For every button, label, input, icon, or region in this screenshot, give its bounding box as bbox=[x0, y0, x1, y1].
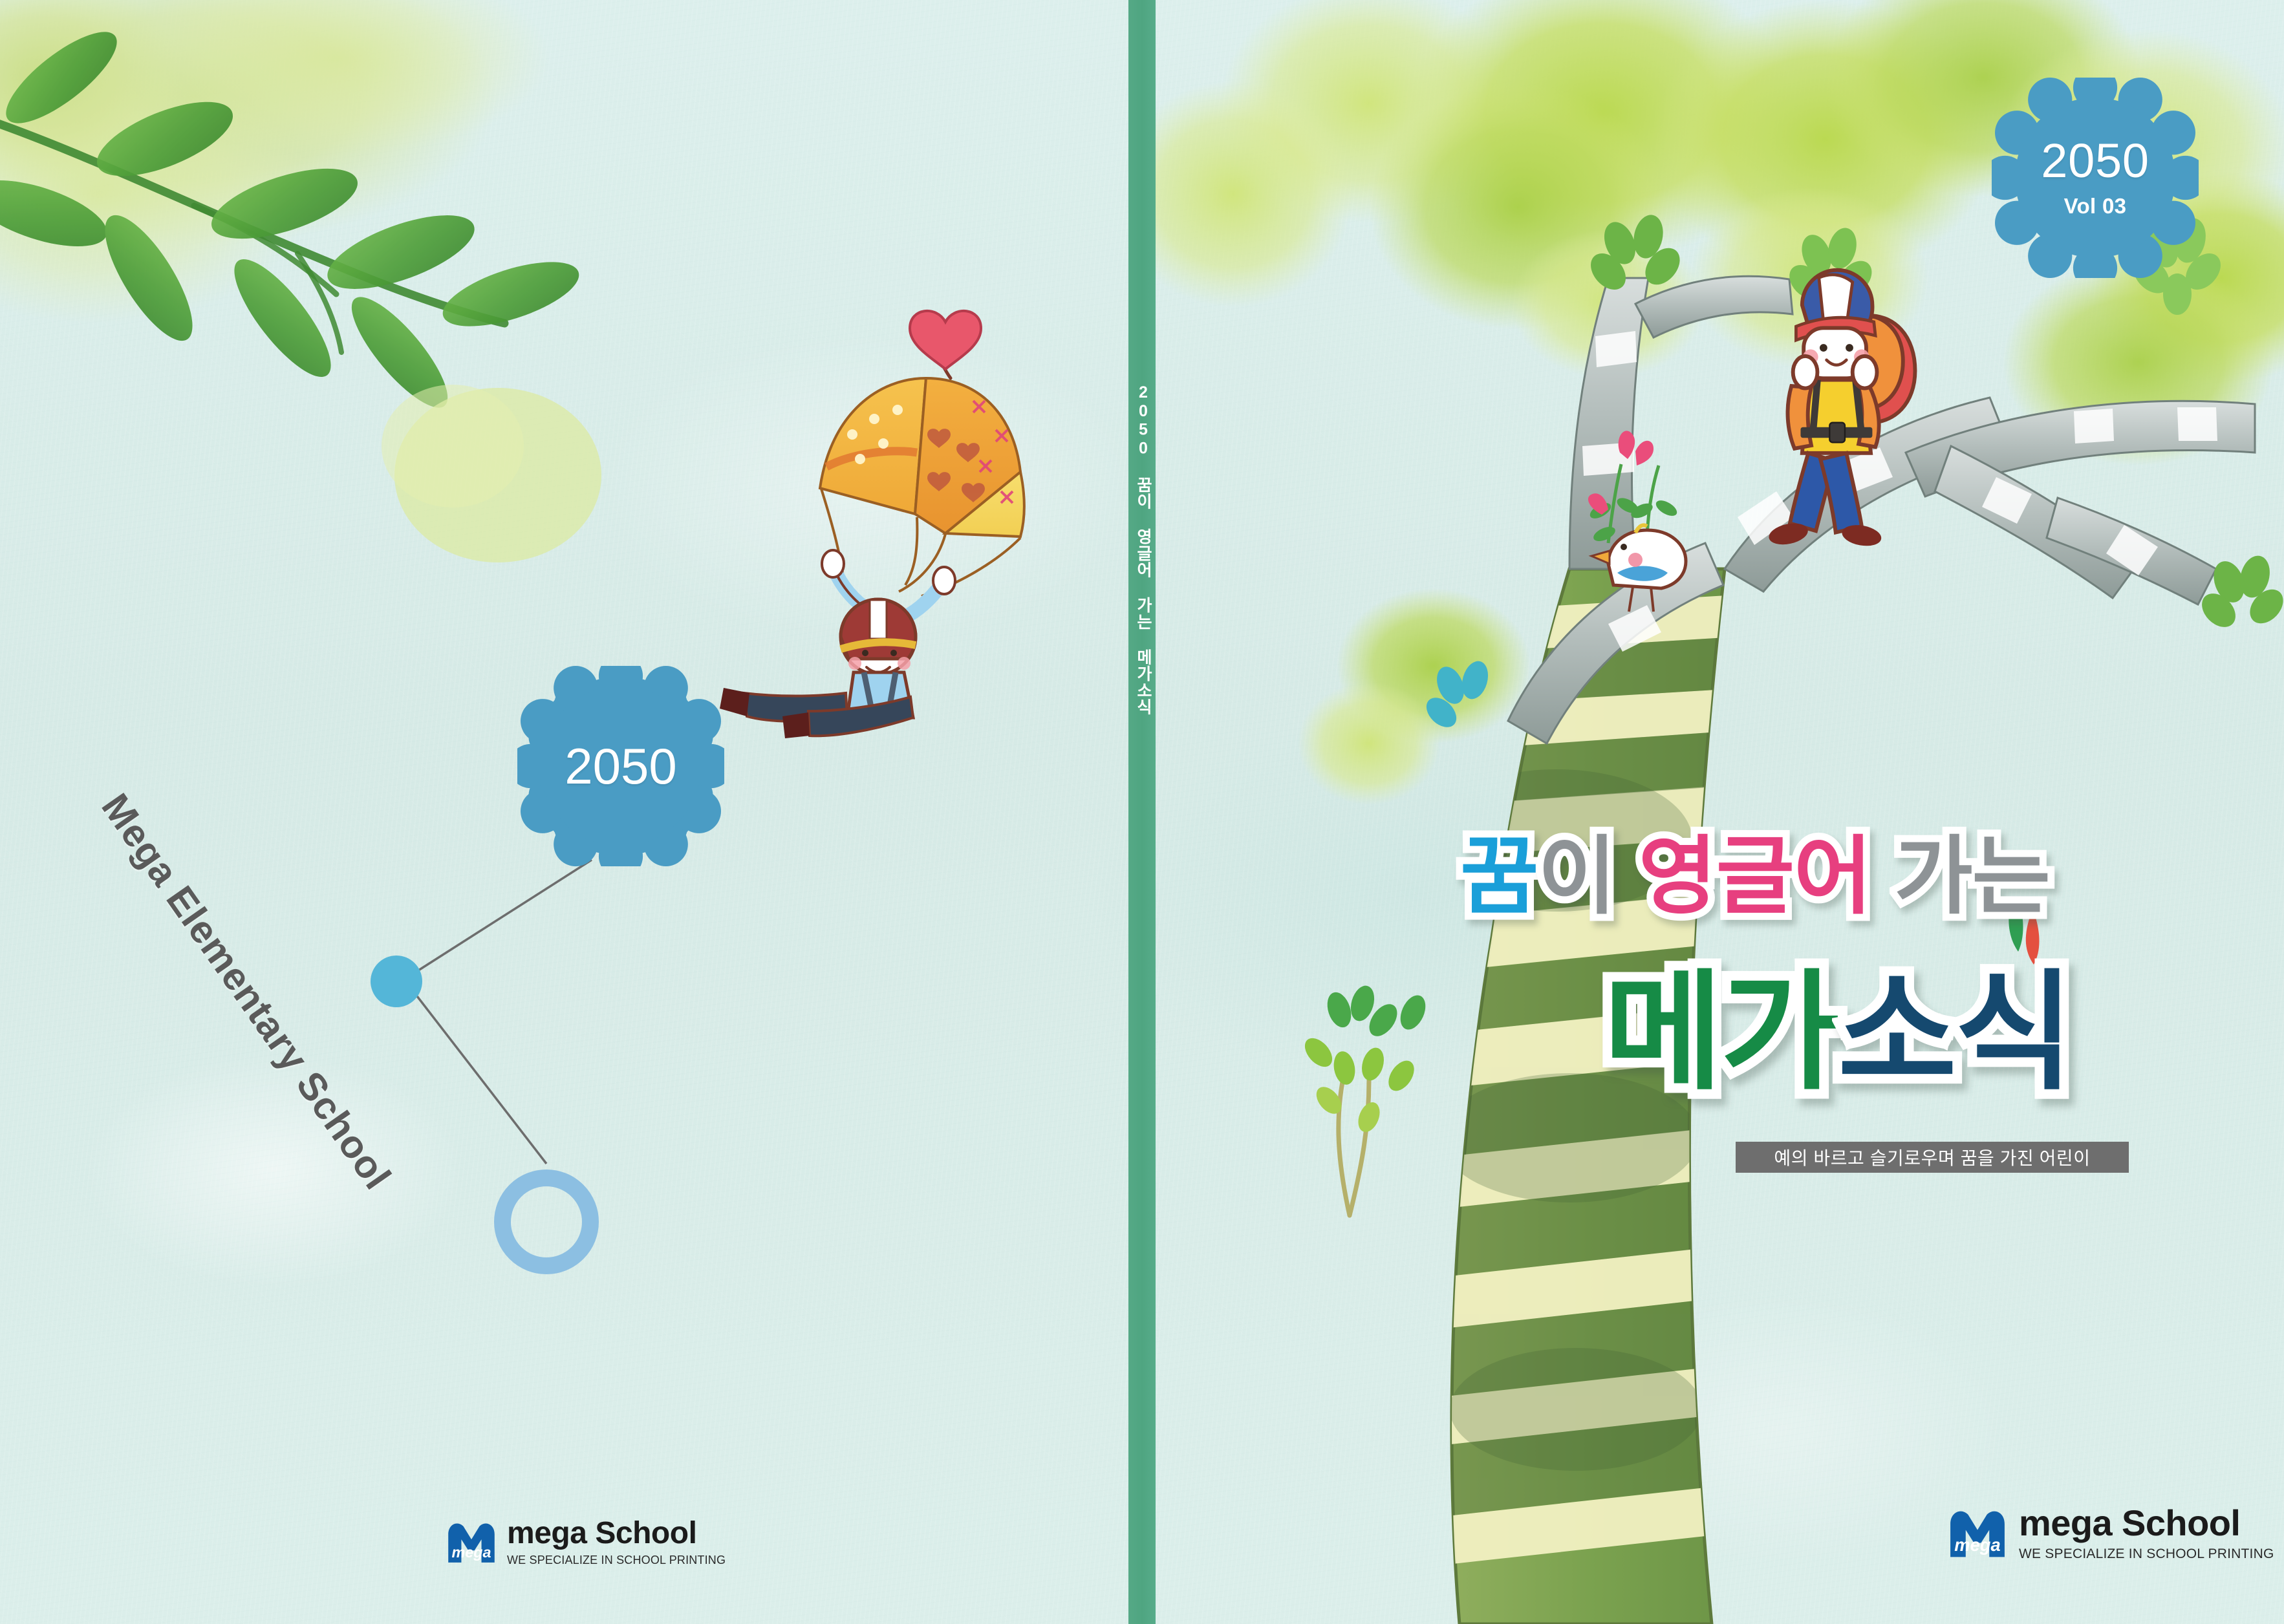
logo-name-front: mega School bbox=[2019, 1505, 2274, 1541]
blue-ring bbox=[502, 1178, 590, 1266]
badge-2050-back: 2050 bbox=[517, 666, 724, 866]
title-word-mega: 메가 bbox=[1604, 961, 1838, 1105]
badge-volume-front: Vol 03 bbox=[2064, 194, 2127, 219]
title-word-sosik: 소식 bbox=[1838, 961, 2072, 1105]
front-tagline-bar: 예의 바르고 슬기로우며 꿈을 가진 어린이 bbox=[1736, 1142, 2129, 1173]
book-cover: 2050 Mega Elementary School mega mega Sc… bbox=[0, 0, 2284, 1624]
title-subtitle-line: 꿈이 영글어 가는 bbox=[1460, 834, 2050, 919]
logo-slogan-front: WE SPECIALIZE IN SCHOOL PRINTING bbox=[2019, 1547, 2274, 1561]
connector-line bbox=[404, 860, 592, 1164]
mega-school-logo-back: mega mega School WE SPECIALIZE IN SCHOOL… bbox=[446, 1518, 726, 1566]
heart-balloon bbox=[910, 311, 981, 369]
badge-2050-vol03-front: 2050 Vol 03 bbox=[1992, 78, 2199, 278]
title-word-yeong: 영글어 bbox=[1639, 829, 1871, 924]
sprout-vines bbox=[1300, 983, 1430, 1215]
title-word-i: 이 bbox=[1538, 829, 1615, 924]
logo-slogan-back: WE SPECIALIZE IN SCHOOL PRINTING bbox=[507, 1554, 726, 1566]
mega-m-mark-icon: mega bbox=[446, 1519, 497, 1565]
svg-text:mega: mega bbox=[452, 1544, 491, 1561]
svg-text:mega: mega bbox=[1954, 1535, 2000, 1555]
parachute-child-illustration bbox=[720, 311, 1024, 738]
title-word-ganeun: 가는 bbox=[1894, 829, 2049, 924]
spine-text: 2050 꿈이 영글어 가는 메가소식 bbox=[1128, 194, 1156, 905]
badge-year-back: 2050 bbox=[565, 741, 677, 791]
badge-year-front: 2050 bbox=[2041, 137, 2149, 185]
front-cover-panel: 2050 Vol 03 bbox=[1156, 0, 2284, 1624]
title-main-line: 메가소식 bbox=[1604, 968, 2072, 1098]
blue-dot bbox=[371, 956, 422, 1007]
title-word-kkum: 꿈 bbox=[1460, 829, 1538, 924]
back-cover-panel: 2050 Mega Elementary School mega mega Sc… bbox=[0, 0, 1128, 1624]
mega-m-mark-icon: mega bbox=[1948, 1506, 2007, 1559]
mega-school-logo-front: mega mega School WE SPECIALIZE IN SCHOOL… bbox=[1948, 1505, 2274, 1561]
logo-name-back: mega School bbox=[507, 1518, 726, 1549]
